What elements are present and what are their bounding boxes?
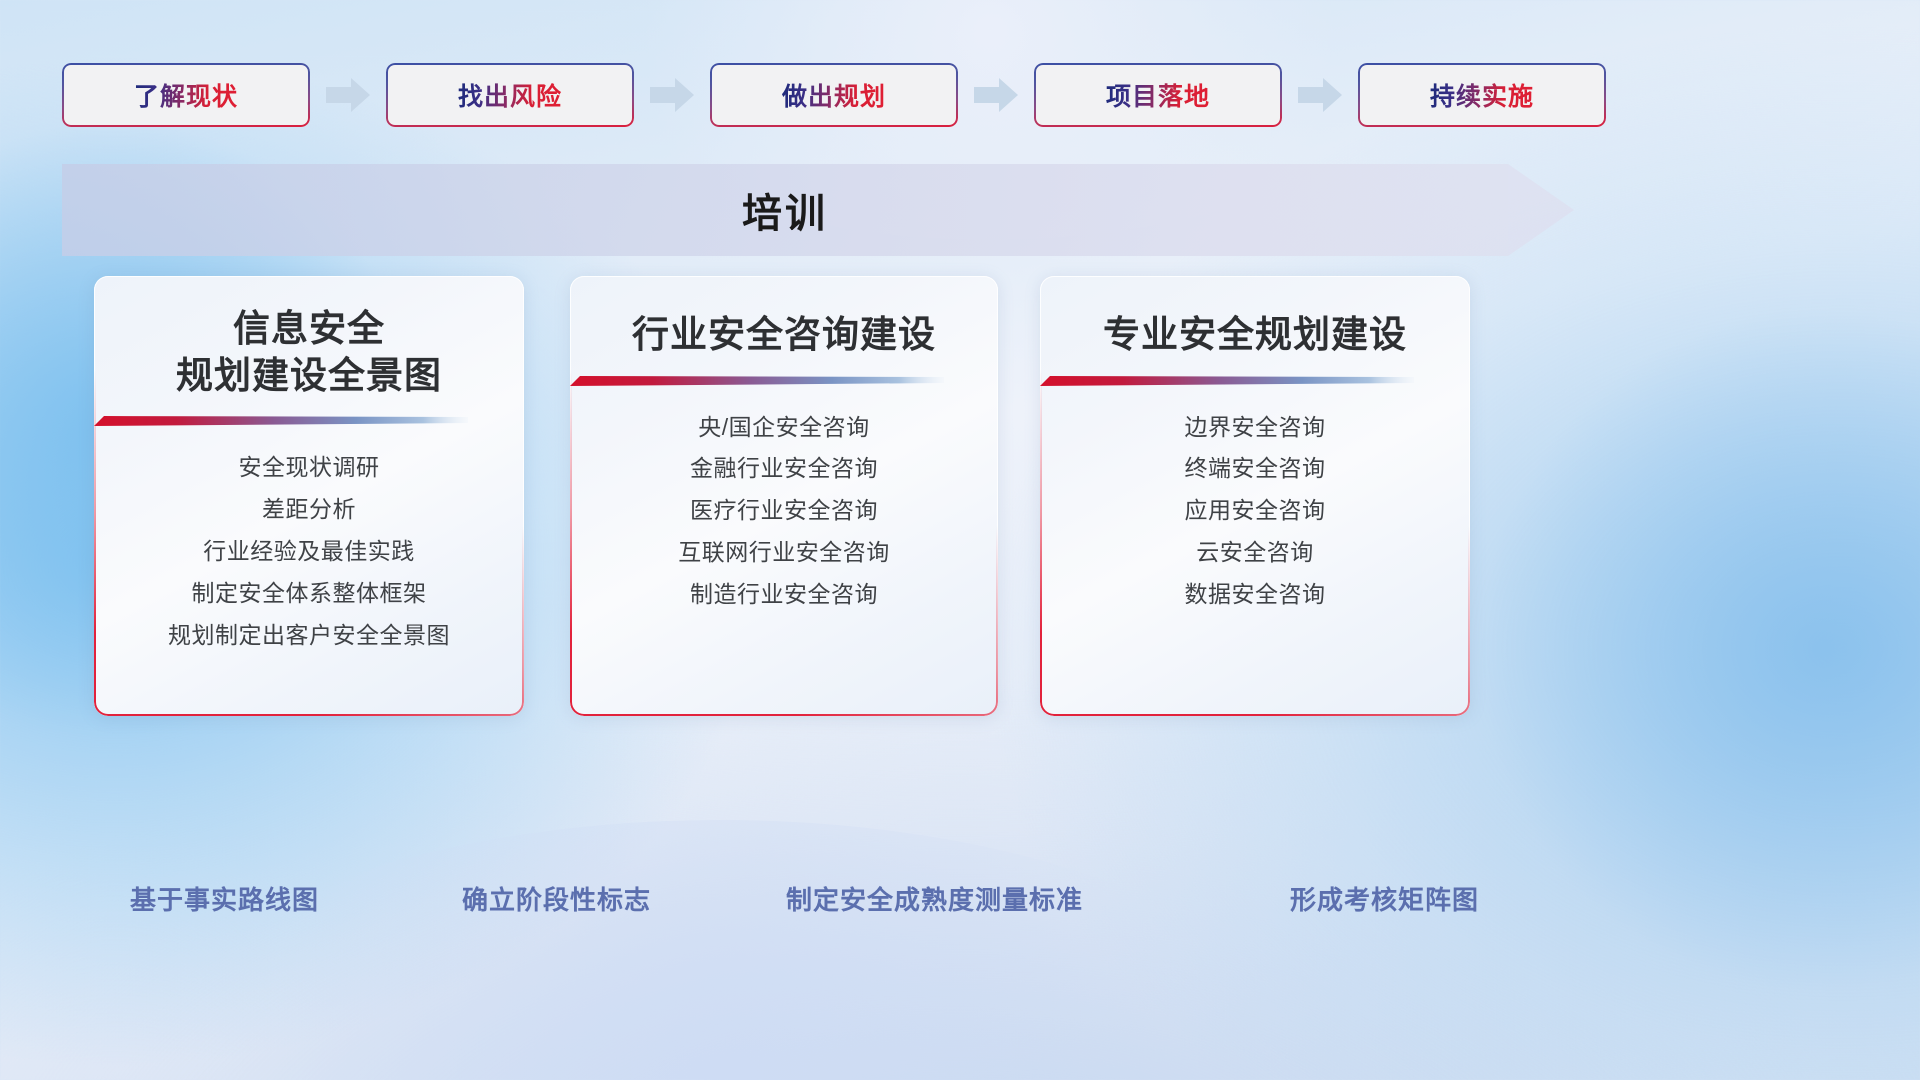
list-item: 制定安全体系整体框架 [94,573,524,615]
list-item: 边界安全咨询 [1040,407,1470,449]
card-row: 信息安全 规划建设全景图 安全现状调研 差距分析 行 [0,276,1920,716]
list-item: 终端安全咨询 [1040,448,1470,490]
step-label-2: 找出风险 [458,77,562,113]
list-item: 互联网行业安全咨询 [570,532,998,574]
caption-roadmap: 基于事实路线图 [130,880,319,917]
step-box-1[interactable]: 了解现状 [62,63,310,127]
step-label-5: 持续实施 [1430,77,1534,113]
list-item: 差距分析 [94,489,524,531]
card-title-1: 信息安全 规划建设全景图 [94,306,524,399]
caption-assessment-matrix: 形成考核矩阵图 [1290,880,1479,917]
card-list-2: 央/国企安全咨询 金融行业安全咨询 医疗行业安全咨询 互联网行业安全咨询 制造行… [570,407,998,616]
step-arrow-1 [310,63,386,127]
training-banner-arrow-icon [1508,164,1574,256]
card-professional-security-planning[interactable]: 专业安全规划建设 边界安全咨询 终端安全咨询 应用安 [1040,276,1470,716]
training-banner-title: 培训 [62,164,1508,256]
list-item: 安全现状调研 [94,447,524,489]
step-label-1: 了解现状 [134,77,238,113]
card-title-3: 专业安全规划建设 [1040,312,1470,359]
background-blob-bottom [120,820,1320,1080]
list-item: 医疗行业安全咨询 [570,490,998,532]
step-box-4[interactable]: 项目落地 [1034,63,1282,127]
card-title-2: 行业安全咨询建设 [570,312,998,359]
step-label-4: 项目落地 [1106,77,1210,113]
card-industry-security-consulting[interactable]: 行业安全咨询建设 央/国企安全咨询 金融行业安全咨询 [570,276,998,716]
list-item: 央/国企安全咨询 [570,407,998,449]
card-divider-3 [1040,375,1470,385]
process-step-row: 了解现状 找出风险 做出规划 项目落地 持续实施 [62,62,1858,128]
step-box-5[interactable]: 持续实施 [1358,63,1606,127]
step-label-3: 做出规划 [782,77,886,113]
caption-row: 基于事实路线图 确立阶段性标志 制定安全成熟度测量标准 形成考核矩阵图 [0,880,1920,950]
list-item: 金融行业安全咨询 [570,448,998,490]
caption-maturity-standard: 制定安全成熟度测量标准 [786,880,1083,917]
list-item: 云安全咨询 [1040,532,1470,574]
list-item: 应用安全咨询 [1040,490,1470,532]
step-arrow-2 [634,63,710,127]
card-information-security-panorama[interactable]: 信息安全 规划建设全景图 安全现状调研 差距分析 行 [94,276,524,716]
step-box-3[interactable]: 做出规划 [710,63,958,127]
card-list-1: 安全现状调研 差距分析 行业经验及最佳实践 制定安全体系整体框架 规划制定出客户… [94,447,524,656]
step-box-2[interactable]: 找出风险 [386,63,634,127]
list-item: 行业经验及最佳实践 [94,531,524,573]
card-divider-1 [94,415,524,425]
caption-milestones: 确立阶段性标志 [462,880,651,917]
list-item: 制造行业安全咨询 [570,574,998,616]
step-arrow-4 [1282,63,1358,127]
list-item: 数据安全咨询 [1040,574,1470,616]
card-divider-2 [570,375,998,385]
list-item: 规划制定出客户安全全景图 [94,615,524,657]
card-list-3: 边界安全咨询 终端安全咨询 应用安全咨询 云安全咨询 数据安全咨询 [1040,407,1470,616]
step-arrow-3 [958,63,1034,127]
